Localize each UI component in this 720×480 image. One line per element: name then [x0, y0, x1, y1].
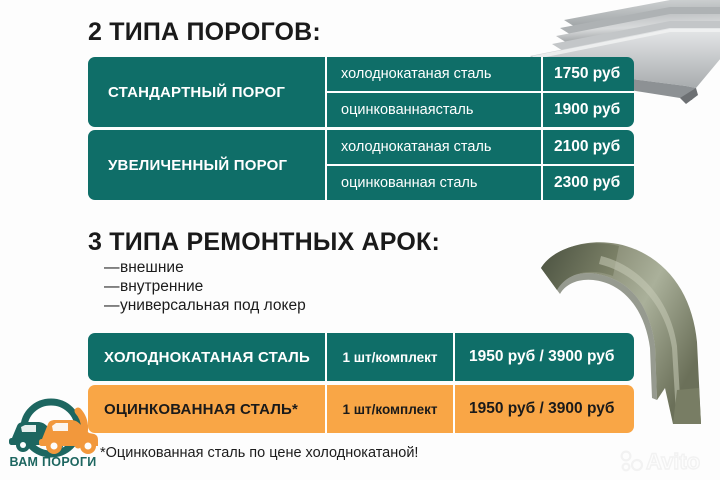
list-item-label: внешние [120, 259, 184, 276]
avito-watermark: Avito [618, 445, 716, 475]
price-value: 2300 руб [543, 174, 634, 192]
price-value: 2100 руб [543, 138, 634, 156]
dash-bullet-icon: — [104, 277, 120, 296]
sills-heading: 2 ТИПА ПОРОГОВ: [88, 18, 321, 47]
material-label: ОЦИНКОВАННАЯ СТАЛЬ* [88, 385, 327, 433]
table-row: ХОЛОДНОКАТАНАЯ СТАЛЬ 1 шт/комплект 1950 … [88, 333, 634, 381]
avito-dot-icon [623, 464, 630, 471]
promo-image-root: 2 ТИПА ПОРОГОВ: СТАНДАРТНЫЙ ПОРОГ холодн… [0, 0, 720, 480]
sill-type-label: СТАНДАРТНЫЙ ПОРОГ [88, 57, 327, 127]
list-item-label: универсальная под локер [120, 297, 306, 314]
price-value: 1900 руб [543, 101, 634, 119]
material-label: холоднокатаная сталь [327, 57, 543, 91]
table-row: оцинкованная сталь 2300 руб [327, 164, 634, 200]
price-value: 1750 руб [543, 65, 634, 83]
arches-price-table: ХОЛОДНОКАТАНАЯ СТАЛЬ 1 шт/комплект 1950 … [88, 333, 634, 433]
dash-bullet-icon: — [104, 258, 120, 277]
table-row-group: СТАНДАРТНЫЙ ПОРОГ холоднокатаная сталь 1… [88, 57, 634, 127]
sill-type-label: УВЕЛИЧЕННЫЙ ПОРОГ [88, 130, 327, 200]
table-row: холоднокатаная сталь 1750 руб [327, 57, 634, 91]
arch-types-list: —внешние —внутренние —универсальная под … [104, 258, 306, 315]
material-label: холоднокатаная сталь [327, 130, 543, 164]
list-item: —универсальная под локер [104, 296, 306, 315]
price-value: 1950 руб / 3900 руб [455, 385, 634, 433]
brand-name-label: ВАМ ПОРОГИ [5, 455, 101, 469]
table-row: оцинкованнаясталь 1900 руб [327, 91, 634, 127]
table-row: холоднокатаная сталь 2100 руб [327, 130, 634, 164]
avito-dot-icon [622, 452, 631, 461]
footnote-text: *Оцинкованная сталь по цене холоднокатан… [100, 445, 418, 461]
table-row-group: УВЕЛИЧЕННЫЙ ПОРОГ холоднокатаная сталь 2… [88, 130, 634, 200]
avito-dot-icon [632, 460, 642, 470]
material-label: оцинкованная сталь [327, 166, 543, 200]
arches-heading: 3 ТИПА РЕМОНТНЫХ АРОК: [88, 228, 440, 257]
avito-wordmark: Avito [646, 449, 700, 474]
quantity-label: 1 шт/комплект [327, 333, 455, 381]
table-row: ОЦИНКОВАННАЯ СТАЛЬ* 1 шт/комплект 1950 р… [88, 385, 634, 433]
list-item-label: внутренние [120, 278, 203, 295]
list-item: —внешние [104, 258, 306, 277]
price-value: 1950 руб / 3900 руб [455, 333, 634, 381]
material-label: ХОЛОДНОКАТАНАЯ СТАЛЬ [88, 333, 327, 381]
quantity-label: 1 шт/комплект [327, 385, 455, 433]
list-item: —внутренние [104, 277, 306, 296]
material-label: оцинкованнаясталь [327, 93, 543, 127]
sills-price-table: СТАНДАРТНЫЙ ПОРОГ холоднокатаная сталь 1… [88, 57, 634, 203]
dash-bullet-icon: — [104, 296, 120, 315]
